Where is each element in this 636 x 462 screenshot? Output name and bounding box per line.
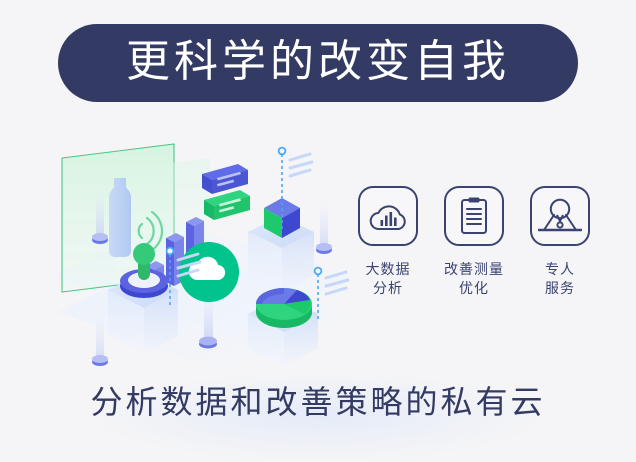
clipboard-icon [458, 196, 490, 236]
feature-icon-frame [530, 186, 590, 246]
cloud-bar-chart-icon [368, 199, 408, 233]
feature-icon-frame [358, 186, 418, 246]
support-person-icon [538, 197, 582, 235]
bottle-silhouette [109, 178, 131, 257]
feature-label-big-data: 大数据 分析 [366, 260, 411, 298]
tagline: 分析数据和改善策略的私有云 [0, 386, 636, 418]
label-card-analysis [204, 190, 250, 220]
feature-label-support: 专人 服务 [545, 260, 575, 298]
poster-canvas: 更科学的改变自我 [0, 0, 636, 450]
illustration-svg [52, 126, 352, 366]
feature-icon-frame [444, 186, 504, 246]
header-pill: 更科学的改变自我 [58, 24, 578, 102]
feature-item-big-data[interactable]: 大数据 分析 [352, 186, 424, 298]
page-title: 更科学的改变自我 [126, 40, 510, 84]
feature-list: 大数据 分析 改善测量 优化 [352, 186, 596, 336]
isometric-pie-chart [256, 288, 312, 328]
feature-label-measurement: 改善测量 优化 [444, 260, 504, 298]
feature-item-support[interactable]: 专人 服务 [524, 186, 596, 298]
hero-illustration [52, 126, 352, 366]
feature-item-measurement[interactable]: 改善测量 优化 [438, 186, 510, 298]
